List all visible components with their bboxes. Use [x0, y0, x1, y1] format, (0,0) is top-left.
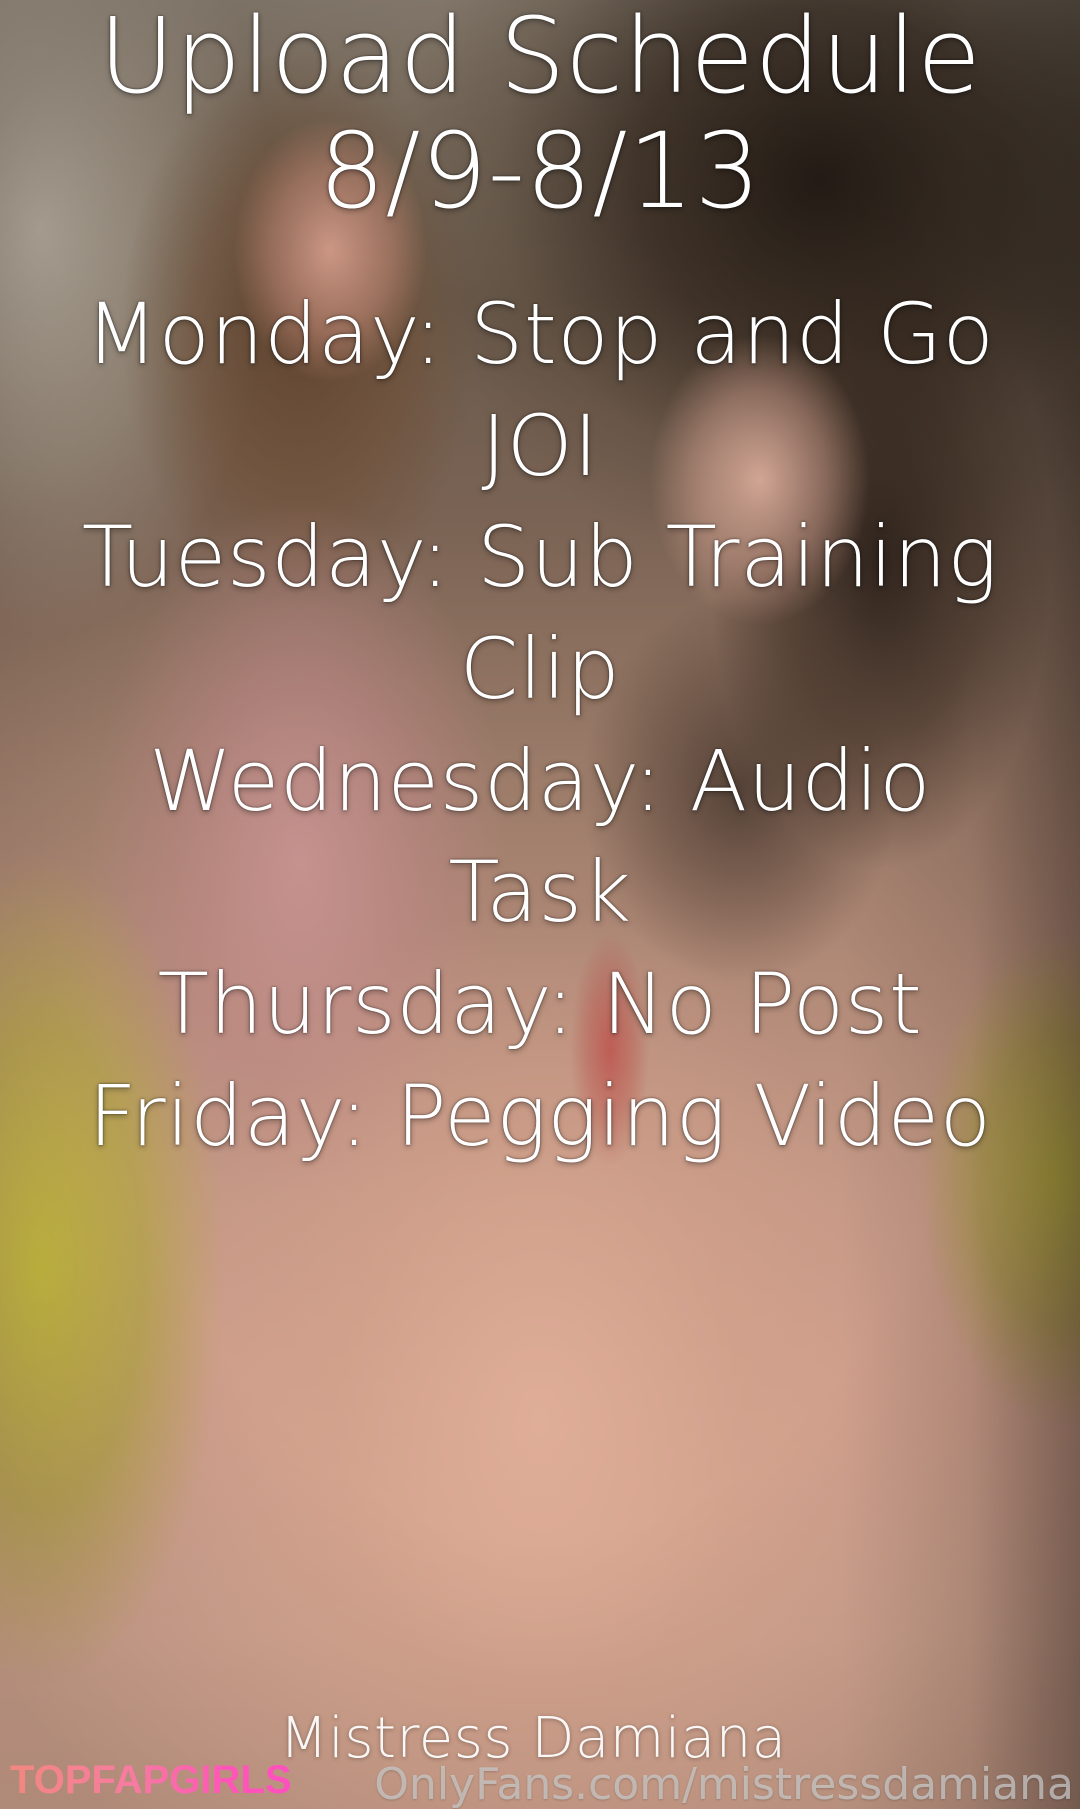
page-title: Upload Schedule: [0, 0, 1080, 110]
date-range: 8/9-8/13: [0, 110, 1080, 233]
schedule-item-friday: Friday: Pegging Video: [70, 1061, 1010, 1173]
schedule-list: Monday: Stop and Go JOI Tuesday: Sub Tra…: [0, 279, 1080, 1173]
schedule-item-monday: Monday: Stop and Go JOI: [70, 279, 1010, 502]
poster-content: Upload Schedule 8/9-8/13 Monday: Stop an…: [0, 0, 1080, 1809]
schedule-item-thursday: Thursday: No Post: [70, 949, 1010, 1061]
site-logo: TOPFAPGIRLS: [10, 1758, 292, 1803]
schedule-item-tuesday: Tuesday: Sub Training Clip: [70, 502, 1010, 725]
onlyfans-watermark: OnlyFans.com/mistressdamiana: [374, 1763, 1074, 1807]
schedule-poster: Upload Schedule 8/9-8/13 Monday: Stop an…: [0, 0, 1080, 1809]
schedule-item-wednesday: Wednesday: Audio Task: [70, 726, 1010, 949]
